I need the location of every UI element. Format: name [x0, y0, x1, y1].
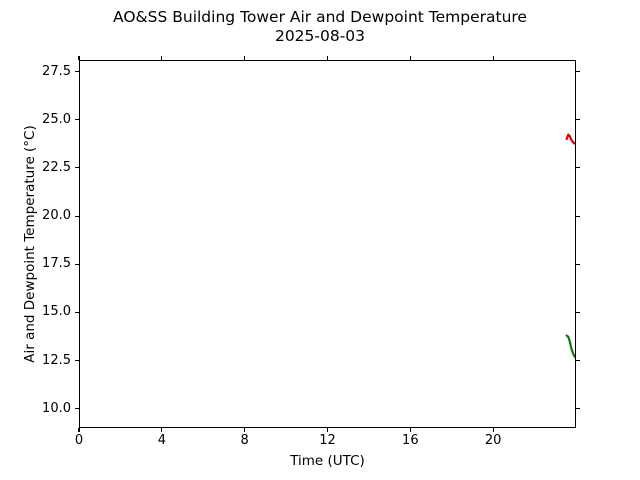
y-tick-label: 25.0: [11, 113, 71, 127]
y-tick-right: [576, 71, 580, 72]
x-tick-bottom: [410, 428, 411, 432]
y-tick-label: 17.5: [11, 257, 71, 271]
y-tick-label: 27.5: [11, 65, 71, 79]
x-tick-top: [410, 56, 411, 60]
y-tick-label: 10.0: [11, 402, 71, 416]
y-tick-left: [75, 119, 79, 120]
y-tick-right: [576, 360, 580, 361]
data-series-line: [567, 135, 575, 144]
y-tick-label: 15.0: [11, 305, 71, 319]
y-tick-right: [576, 119, 580, 120]
x-tick-bottom: [493, 428, 494, 432]
y-tick-left: [75, 312, 79, 313]
plot-data-area: [80, 61, 575, 427]
data-series-line: [567, 336, 575, 358]
y-tick-left: [75, 167, 79, 168]
x-tick-bottom: [161, 428, 162, 432]
x-tick-label: 0: [54, 434, 104, 448]
y-tick-right: [576, 167, 580, 168]
y-tick-left: [75, 264, 79, 265]
x-tick-label: 4: [137, 434, 187, 448]
x-tick-label: 16: [385, 434, 435, 448]
series-canvas: [80, 61, 575, 427]
y-tick-right: [576, 312, 580, 313]
chart-title: AO&SS Building Tower Air and Dewpoint Te…: [0, 8, 640, 46]
y-axis-label: Air and Dewpoint Temperature (°C): [22, 60, 40, 428]
x-tick-top: [244, 56, 245, 60]
plot-axes-frame: [79, 60, 576, 428]
y-tick-left: [75, 360, 79, 361]
y-tick-right: [576, 408, 580, 409]
y-tick-label: 20.0: [11, 209, 71, 223]
y-tick-label: 12.5: [11, 354, 71, 368]
x-tick-top: [161, 56, 162, 60]
x-tick-top: [493, 56, 494, 60]
y-tick-left: [75, 71, 79, 72]
x-tick-label: 12: [303, 434, 353, 448]
x-tick-label: 8: [220, 434, 270, 448]
y-tick-left: [75, 216, 79, 217]
matplotlib-figure: AO&SS Building Tower Air and Dewpoint Te…: [0, 0, 640, 480]
x-axis-label: Time (UTC): [79, 453, 576, 469]
y-tick-right: [576, 264, 580, 265]
y-tick-label: 22.5: [11, 161, 71, 175]
x-tick-bottom: [244, 428, 245, 432]
y-tick-left: [75, 408, 79, 409]
x-tick-label: 20: [468, 434, 518, 448]
x-tick-top: [327, 56, 328, 60]
x-tick-bottom: [327, 428, 328, 432]
x-tick-top: [78, 56, 79, 60]
x-tick-bottom: [78, 428, 79, 432]
y-tick-right: [576, 216, 580, 217]
